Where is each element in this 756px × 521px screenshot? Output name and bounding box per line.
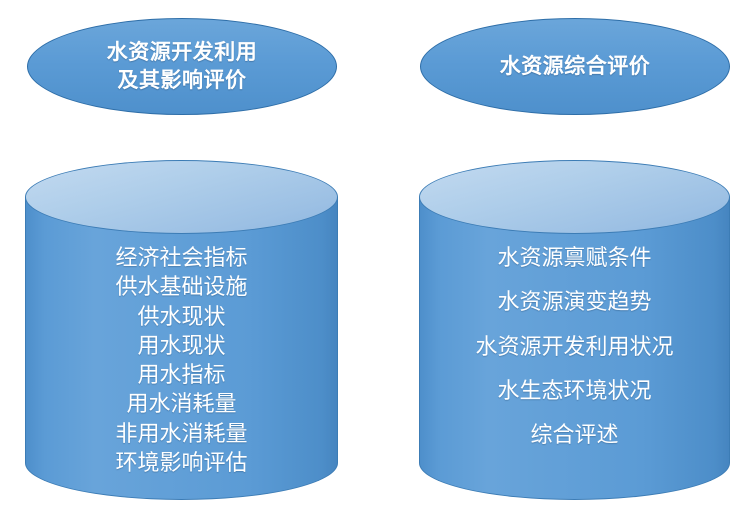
cylinder-left-top-ellipse — [25, 160, 338, 234]
header-ellipse-left-label: 水资源开发利用 及其影响评价 — [93, 39, 272, 94]
diagram-canvas: 水资源开发利用 及其影响评价 经济社会指标 供水基础设施 供水现状 用水现状 用… — [0, 0, 756, 521]
cylinder-right-top-ellipse — [419, 160, 730, 234]
cylinder-left[interactable]: 经济社会指标 供水基础设施 供水现状 用水现状 用水指标 用水消耗量 非用水消耗… — [25, 160, 338, 500]
list-item[interactable]: 综合评述 — [530, 420, 618, 449]
cylinder-right-item-list: 水资源禀赋条件 水资源演变趋势 水资源开发利用状况 水生态环境状况 综合评述 — [419, 234, 730, 484]
list-item[interactable]: 水资源开发利用状况 — [475, 332, 673, 361]
list-item[interactable]: 环境影响评估 — [115, 448, 247, 477]
list-item[interactable]: 水生态环境状况 — [497, 376, 651, 405]
list-item[interactable]: 经济社会指标 — [115, 243, 247, 272]
cylinder-left-item-list: 经济社会指标 供水基础设施 供水现状 用水现状 用水指标 用水消耗量 非用水消耗… — [25, 234, 338, 484]
list-item[interactable]: 非用水消耗量 — [115, 419, 247, 448]
cylinder-right[interactable]: 水资源禀赋条件 水资源演变趋势 水资源开发利用状况 水生态环境状况 综合评述 — [419, 160, 730, 500]
list-item[interactable]: 水资源演变趋势 — [497, 287, 651, 316]
header-ellipse-right[interactable]: 水资源综合评价 — [420, 18, 730, 115]
list-item[interactable]: 供水基础设施 — [115, 272, 247, 301]
list-item[interactable]: 供水现状 — [137, 302, 225, 331]
list-item[interactable]: 用水现状 — [137, 331, 225, 360]
header-ellipse-right-label: 水资源综合评价 — [486, 53, 665, 80]
header-ellipse-left[interactable]: 水资源开发利用 及其影响评价 — [27, 18, 337, 115]
list-item[interactable]: 用水指标 — [137, 360, 225, 389]
list-item[interactable]: 水资源禀赋条件 — [497, 243, 651, 272]
list-item[interactable]: 用水消耗量 — [126, 389, 236, 418]
